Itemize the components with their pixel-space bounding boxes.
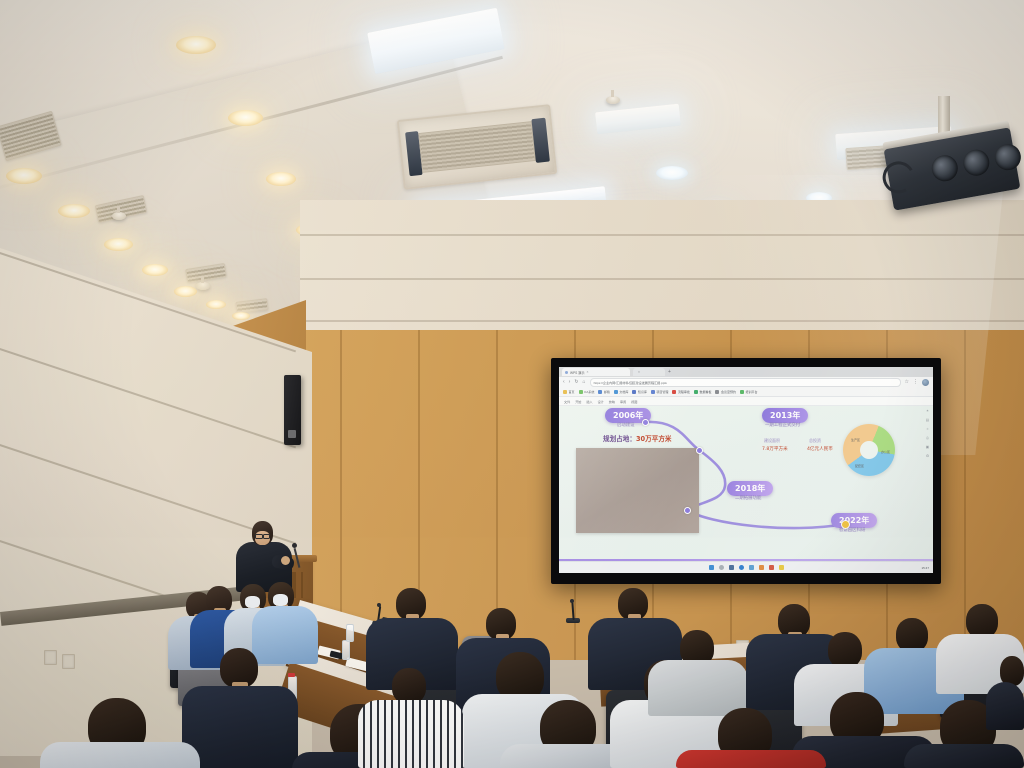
bookmark-item[interactable]: 文档库 <box>614 390 629 394</box>
address-bar-input[interactable]: https://企业内网/汇报材料/园区建设发展历程汇报.pptx <box>590 378 901 387</box>
milestone-badge-2018: 2018年 <box>727 481 773 496</box>
downlight-4 <box>142 264 168 276</box>
side-tool-icon[interactable]: ▤ <box>926 418 929 422</box>
bookmark-favicon-icon <box>614 390 618 394</box>
windows-taskbar: 15:47 <box>559 561 933 573</box>
bottle-cap-1 <box>288 673 295 677</box>
milestone-caption-2006: 启动建设 <box>617 422 635 428</box>
downlight-1 <box>6 168 42 184</box>
stat-value-invest: 4亿元人民币 <box>807 446 833 452</box>
timeline-node-2006 <box>642 419 649 426</box>
presenter-hand <box>281 556 290 565</box>
glasses-icon <box>255 534 270 537</box>
bookmark-favicon-icon <box>715 390 719 394</box>
bookmark-favicon-icon <box>651 390 655 394</box>
face-mask-1 <box>245 596 260 608</box>
stat-label-area: 建设面积 <box>764 438 780 444</box>
toolbar-item-view[interactable]: 视图 <box>631 399 637 404</box>
browser-tab-0[interactable]: WPS 演示 × <box>562 368 630 376</box>
taskbar-clock: 15:47 <box>921 566 929 570</box>
browser-url-bar: ‹ › ↻ ⌂ https://企业内网/汇报材料/园区建设发展历程汇报.ppt… <box>559 377 933 388</box>
stat-label-invest: 总投资 <box>809 438 821 444</box>
highlight-value: 30万平方米 <box>636 435 672 443</box>
milestone-badge-2022: 2022年 <box>831 513 877 528</box>
side-tool-icon[interactable]: ✶ <box>926 409 929 413</box>
downlight-10 <box>266 172 296 186</box>
slide-side-toolbar: ✶ ▤ ⌗ ◎ ▣ ⚙ <box>923 409 932 529</box>
bookmark-favicon-icon <box>740 390 744 394</box>
desk-mic-head-1 <box>377 603 381 607</box>
side-tool-icon[interactable]: ⌗ <box>926 427 928 431</box>
bookmark-item[interactable]: 培训平台 <box>740 390 758 394</box>
downlight-14 <box>656 166 688 180</box>
face-mask-2 <box>273 594 288 606</box>
bookmark-item[interactable]: 邮箱 <box>598 390 610 394</box>
tab-favicon-icon <box>565 371 568 374</box>
timeline-node-2022 <box>841 520 850 529</box>
phone-icon[interactable] <box>729 565 734 570</box>
bookmark-item[interactable]: 流程审批 <box>672 390 690 394</box>
wall-outlet-2[interactable] <box>62 654 75 669</box>
milestone-caption-2013: 一期工程正式交付 <box>765 422 800 428</box>
donut-label-office: 办公区 <box>881 450 890 454</box>
home-icon[interactable]: ⌂ <box>583 380 586 385</box>
timeline-node-2018 <box>684 507 691 514</box>
presentation-slide: 2006年 启动建设 规划占地：30万平方米 2013年 一期工程正式交付 建设… <box>559 406 933 573</box>
donut-label-support: 配套区 <box>855 464 864 468</box>
highlight-label: 规划占地： <box>603 435 636 443</box>
start-icon[interactable] <box>709 565 714 570</box>
mail-icon[interactable] <box>769 565 774 570</box>
smoke-detector-1 <box>606 96 620 104</box>
bookmark-favicon-icon <box>632 390 636 394</box>
toolbar-item-design[interactable]: 设计 <box>598 399 604 404</box>
water-bottle-2 <box>342 640 350 660</box>
toolbar-item-file[interactable]: 文件 <box>564 399 570 404</box>
bookmark-favicon-icon <box>598 390 602 394</box>
bookmark-favicon-icon <box>672 390 676 394</box>
milestone-caption-2018: 二期拓展功能 <box>735 495 761 501</box>
browser-bookmarks-bar: 首页 OA系统 邮箱 文档库 知识库 项目管理 流程审批 数据看板 会议室预约 … <box>559 388 933 397</box>
downlight-7 <box>232 312 250 320</box>
water-bottle-3 <box>346 624 354 642</box>
bookmark-item[interactable]: 项目管理 <box>651 390 669 394</box>
projection-screen-frame: WPS 演示 × × + ‹ › ↻ ⌂ https://企业内网/汇报材料/园… <box>551 358 941 584</box>
new-tab-icon[interactable]: + <box>668 370 671 375</box>
bookmark-item[interactable]: OA系统 <box>579 390 595 394</box>
downlight-8 <box>176 36 216 54</box>
side-tool-icon[interactable]: ⚙ <box>926 454 929 458</box>
smoke-detector-3 <box>196 282 210 290</box>
podium-microphone <box>292 543 297 548</box>
downlight-2 <box>58 204 90 218</box>
profile-avatar-icon[interactable] <box>922 379 929 386</box>
app-toolbar: 文件 开始 插入 设计 放映 审阅 视图 <box>559 397 933 406</box>
side-tool-icon[interactable]: ▣ <box>926 445 929 449</box>
bookmark-item[interactable]: 会议室预约 <box>715 390 736 394</box>
reload-icon[interactable]: ↻ <box>574 380 578 385</box>
wall-speaker <box>284 375 301 445</box>
forward-icon[interactable]: › <box>569 380 571 385</box>
stat-value-area: 7.8万平方米 <box>762 446 788 452</box>
conference-room-photo: WPS 演示 × × + ‹ › ↻ ⌂ https://企业内网/汇报材料/园… <box>0 0 1024 768</box>
browser-icon[interactable] <box>739 565 744 570</box>
smoke-detector-2 <box>112 212 126 220</box>
browser-tab-label: WPS 演示 <box>570 370 585 375</box>
bookmark-item[interactable]: 知识库 <box>632 390 647 394</box>
side-tool-icon[interactable]: ◎ <box>926 436 929 440</box>
timeline-node-2013 <box>696 447 703 454</box>
bookmark-favicon-icon <box>563 390 567 394</box>
milestone-highlight-2006: 规划占地：30万平方米 <box>603 433 672 443</box>
projection-screen: WPS 演示 × × + ‹ › ↻ ⌂ https://企业内网/汇报材料/园… <box>559 367 933 573</box>
bookmark-star-icon[interactable]: ☆ <box>905 380 909 385</box>
notes-icon[interactable] <box>779 565 784 570</box>
downlight-6 <box>206 300 226 309</box>
bookmark-item[interactable]: 首页 <box>563 390 575 394</box>
slide-photo-placeholder <box>576 448 699 533</box>
tab-close-icon[interactable]: × <box>587 370 589 374</box>
toolbar-item-insert[interactable]: 插入 <box>586 399 592 404</box>
downlight-5 <box>174 286 197 297</box>
back-icon[interactable]: ‹ <box>563 380 565 385</box>
donut-label-production: 生产区 <box>851 438 860 442</box>
milestone-badge-2013: 2013年 <box>762 408 808 423</box>
toolbar-item-review[interactable]: 审阅 <box>620 399 626 404</box>
toolbar-item-home[interactable]: 开始 <box>575 399 581 404</box>
share-icon[interactable] <box>759 565 764 570</box>
downlight-9 <box>228 110 263 126</box>
wall-outlet-1[interactable] <box>44 650 57 665</box>
browser-menu-icon[interactable]: ⋮ <box>913 380 918 385</box>
search-icon[interactable] <box>719 565 724 570</box>
browser-tab-1[interactable]: × <box>633 368 665 376</box>
bookmark-favicon-icon <box>694 390 698 394</box>
bookmark-item[interactable]: 数据看板 <box>694 390 712 394</box>
bookmark-favicon-icon <box>579 390 583 394</box>
downlight-3 <box>104 238 133 251</box>
browser-tab-bar: WPS 演示 × × + <box>559 367 933 377</box>
folder-icon[interactable] <box>749 565 754 570</box>
tab-close-icon[interactable]: × <box>638 370 640 374</box>
desk-mic-head-4 <box>570 599 574 603</box>
toolbar-item-slideshow[interactable]: 放映 <box>609 399 615 404</box>
